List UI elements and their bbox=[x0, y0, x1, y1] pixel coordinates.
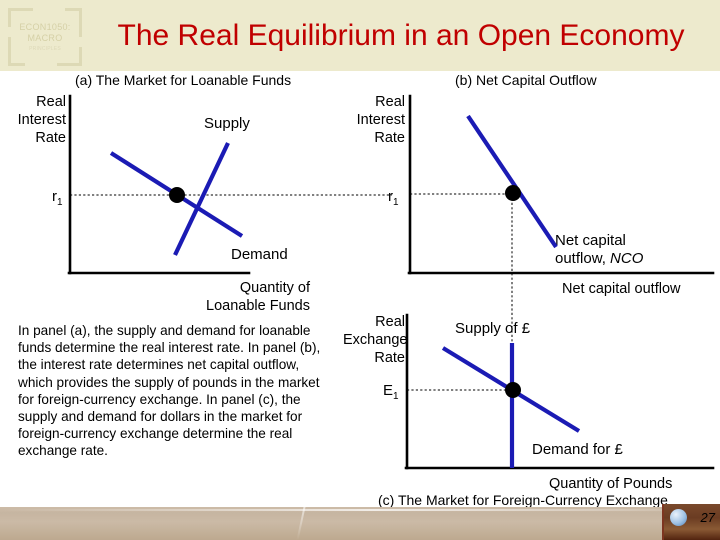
footer-seam bbox=[296, 507, 305, 540]
panel-c-equilibrium-point bbox=[505, 382, 521, 398]
slide-canvas: ECON1050: MACRO PRINCIPLES The Real Equi… bbox=[0, 0, 720, 540]
slide-number-badge: 27 bbox=[662, 504, 720, 540]
slide-number: 27 bbox=[701, 510, 715, 525]
footer-highlight bbox=[0, 509, 720, 511]
explanation-text: In panel (a), the supply and demand for … bbox=[18, 322, 336, 460]
footer-photo-strip bbox=[0, 507, 720, 540]
badge-orb-icon bbox=[670, 509, 687, 526]
